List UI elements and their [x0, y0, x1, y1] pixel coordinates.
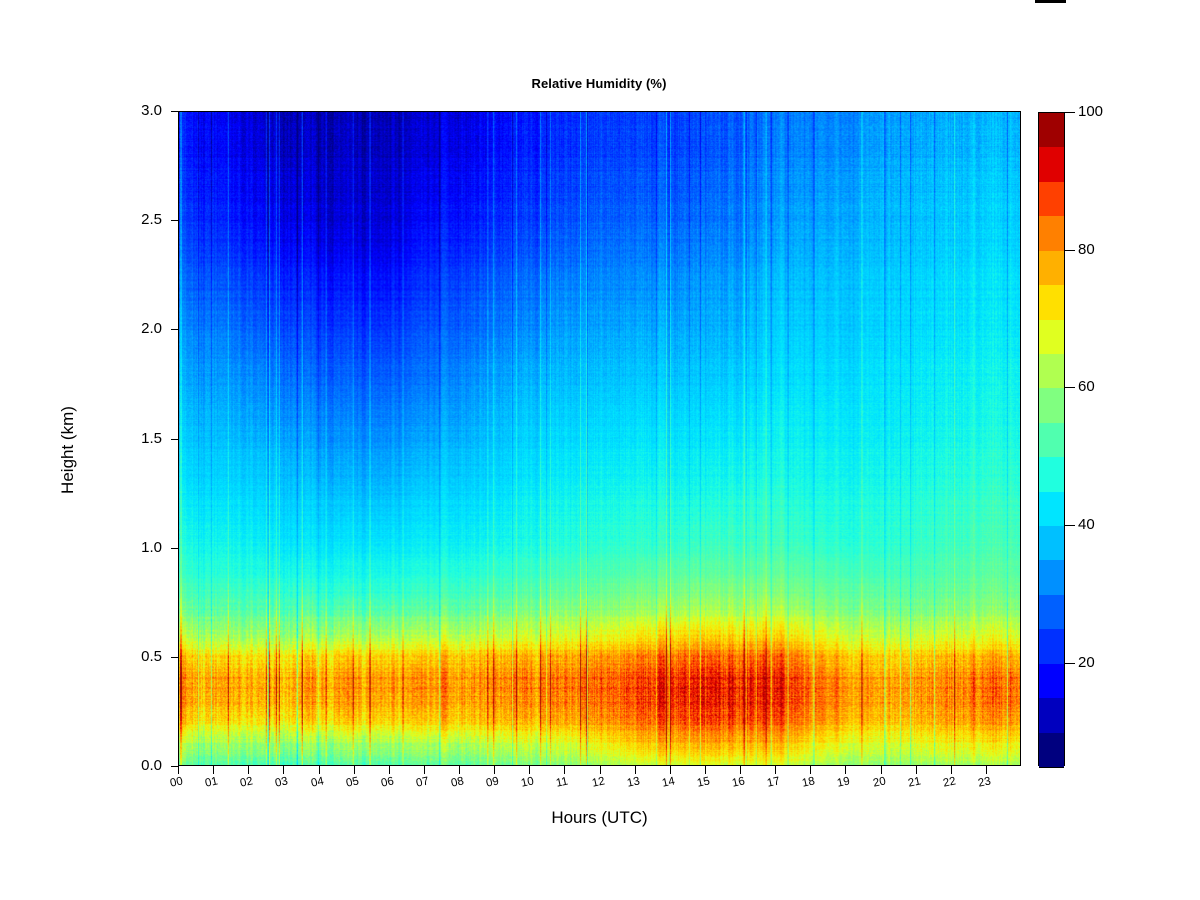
x-tick-mark	[916, 766, 917, 774]
colorbar-cell	[1039, 560, 1064, 595]
x-tick-mark	[424, 766, 425, 774]
y-tick-mark	[171, 548, 178, 549]
colorbar-cell	[1039, 320, 1064, 355]
x-tick-mark	[705, 766, 706, 774]
colorbar-tick-mark	[1065, 525, 1075, 526]
x-tick-mark	[775, 766, 776, 774]
colorbar-cell	[1039, 629, 1064, 664]
colorbar-tick-label: 20	[1078, 654, 1095, 671]
figure-canvas: Relative Humidity (%) 0.00.51.01.52.02.5…	[0, 0, 1200, 900]
colorbar-tick-mark	[1065, 387, 1075, 388]
heatmap-canvas	[179, 112, 1020, 765]
colorbar-cell	[1039, 354, 1064, 389]
colorbar-tick-mark	[1065, 250, 1075, 251]
x-tick-mark	[951, 766, 952, 774]
colorbar-cell	[1039, 216, 1064, 251]
x-tick-label: 16	[731, 775, 746, 789]
colorbar-tick-label: 40	[1078, 516, 1095, 533]
chart-title-text: Relative Humidity (%)	[531, 76, 666, 91]
heatmap-image	[179, 112, 1020, 765]
x-tick-label: 07	[415, 775, 430, 789]
x-tick-label: 15	[696, 775, 711, 789]
x-tick-label: 19	[836, 775, 851, 789]
colorbar-cell	[1039, 251, 1064, 286]
x-tick-mark	[459, 766, 460, 774]
colorbar-tick-label: 60	[1078, 378, 1095, 395]
x-tick-label: 17	[766, 775, 781, 789]
x-tick-mark	[845, 766, 846, 774]
colorbar-cell	[1039, 285, 1064, 320]
x-tick-label: 13	[626, 775, 641, 789]
colorbar-cell	[1039, 664, 1064, 699]
x-tick-mark	[529, 766, 530, 774]
chart-title: Relative Humidity (%)	[0, 76, 1200, 91]
x-tick-mark	[319, 766, 320, 774]
colorbar	[1038, 112, 1065, 766]
x-tick-label: 21	[907, 775, 922, 789]
x-tick-mark	[881, 766, 882, 774]
x-tick-label: 06	[380, 775, 395, 789]
colorbar-cell	[1039, 182, 1064, 217]
x-tick-label: 01	[204, 775, 219, 789]
x-tick-mark	[283, 766, 284, 774]
x-tick-mark	[810, 766, 811, 774]
y-tick-mark	[171, 657, 178, 658]
colorbar-cell	[1039, 147, 1064, 182]
x-tick-mark	[635, 766, 636, 774]
colorbar-tick-label: 100	[1078, 103, 1103, 120]
plot-area	[178, 111, 1021, 766]
colorbar-tick-mark	[1065, 663, 1075, 664]
x-tick-mark	[178, 766, 179, 774]
x-tick-label: 22	[942, 775, 957, 789]
colorbar-tick-label: 80	[1078, 241, 1095, 258]
x-tick-label: 08	[450, 775, 465, 789]
x-tick-label: 11	[555, 776, 569, 790]
colorbar-cell	[1039, 698, 1064, 733]
y-axis-title: Height (km)	[58, 0, 88, 900]
x-tick-label: 05	[345, 775, 360, 789]
x-tick-label: 12	[591, 775, 606, 789]
x-tick-label: 00	[169, 775, 184, 789]
colorbar-cell	[1039, 113, 1064, 148]
colorbar-tick-mark	[1065, 112, 1075, 113]
x-tick-label: 20	[872, 775, 887, 789]
colorbar-cell	[1039, 423, 1064, 458]
x-tick-label: 10	[520, 775, 535, 789]
colorbar-cell	[1039, 457, 1064, 492]
x-axis-title: Hours (UTC)	[178, 808, 1021, 828]
x-tick-mark	[600, 766, 601, 774]
colorbar-cell	[1039, 492, 1064, 527]
x-tick-label: 04	[310, 775, 325, 789]
x-tick-label: 02	[239, 775, 254, 789]
y-tick-mark	[171, 220, 178, 221]
colorbar-cell	[1039, 526, 1064, 561]
y-tick-mark	[171, 439, 178, 440]
x-tick-label: 18	[801, 775, 816, 789]
x-tick-label: 23	[977, 775, 992, 789]
x-tick-mark	[740, 766, 741, 774]
colorbar-cell	[1039, 595, 1064, 630]
x-tick-label: 09	[485, 775, 500, 789]
x-tick-mark	[354, 766, 355, 774]
colorbar-cell	[1039, 388, 1064, 423]
x-tick-mark	[494, 766, 495, 774]
x-tick-label: 03	[274, 775, 289, 789]
y-tick-mark	[171, 111, 178, 112]
x-tick-mark	[248, 766, 249, 774]
y-axis: 0.00.51.01.52.02.53.0	[0, 0, 178, 900]
x-tick-mark	[213, 766, 214, 774]
colorbar-cell	[1039, 733, 1064, 768]
x-tick-label: 14	[661, 775, 676, 789]
x-tick-mark	[564, 766, 565, 774]
top-right-artifact-line	[1035, 0, 1066, 3]
x-tick-mark	[986, 766, 987, 774]
x-tick-mark	[389, 766, 390, 774]
x-tick-mark	[670, 766, 671, 774]
y-tick-mark	[171, 329, 178, 330]
